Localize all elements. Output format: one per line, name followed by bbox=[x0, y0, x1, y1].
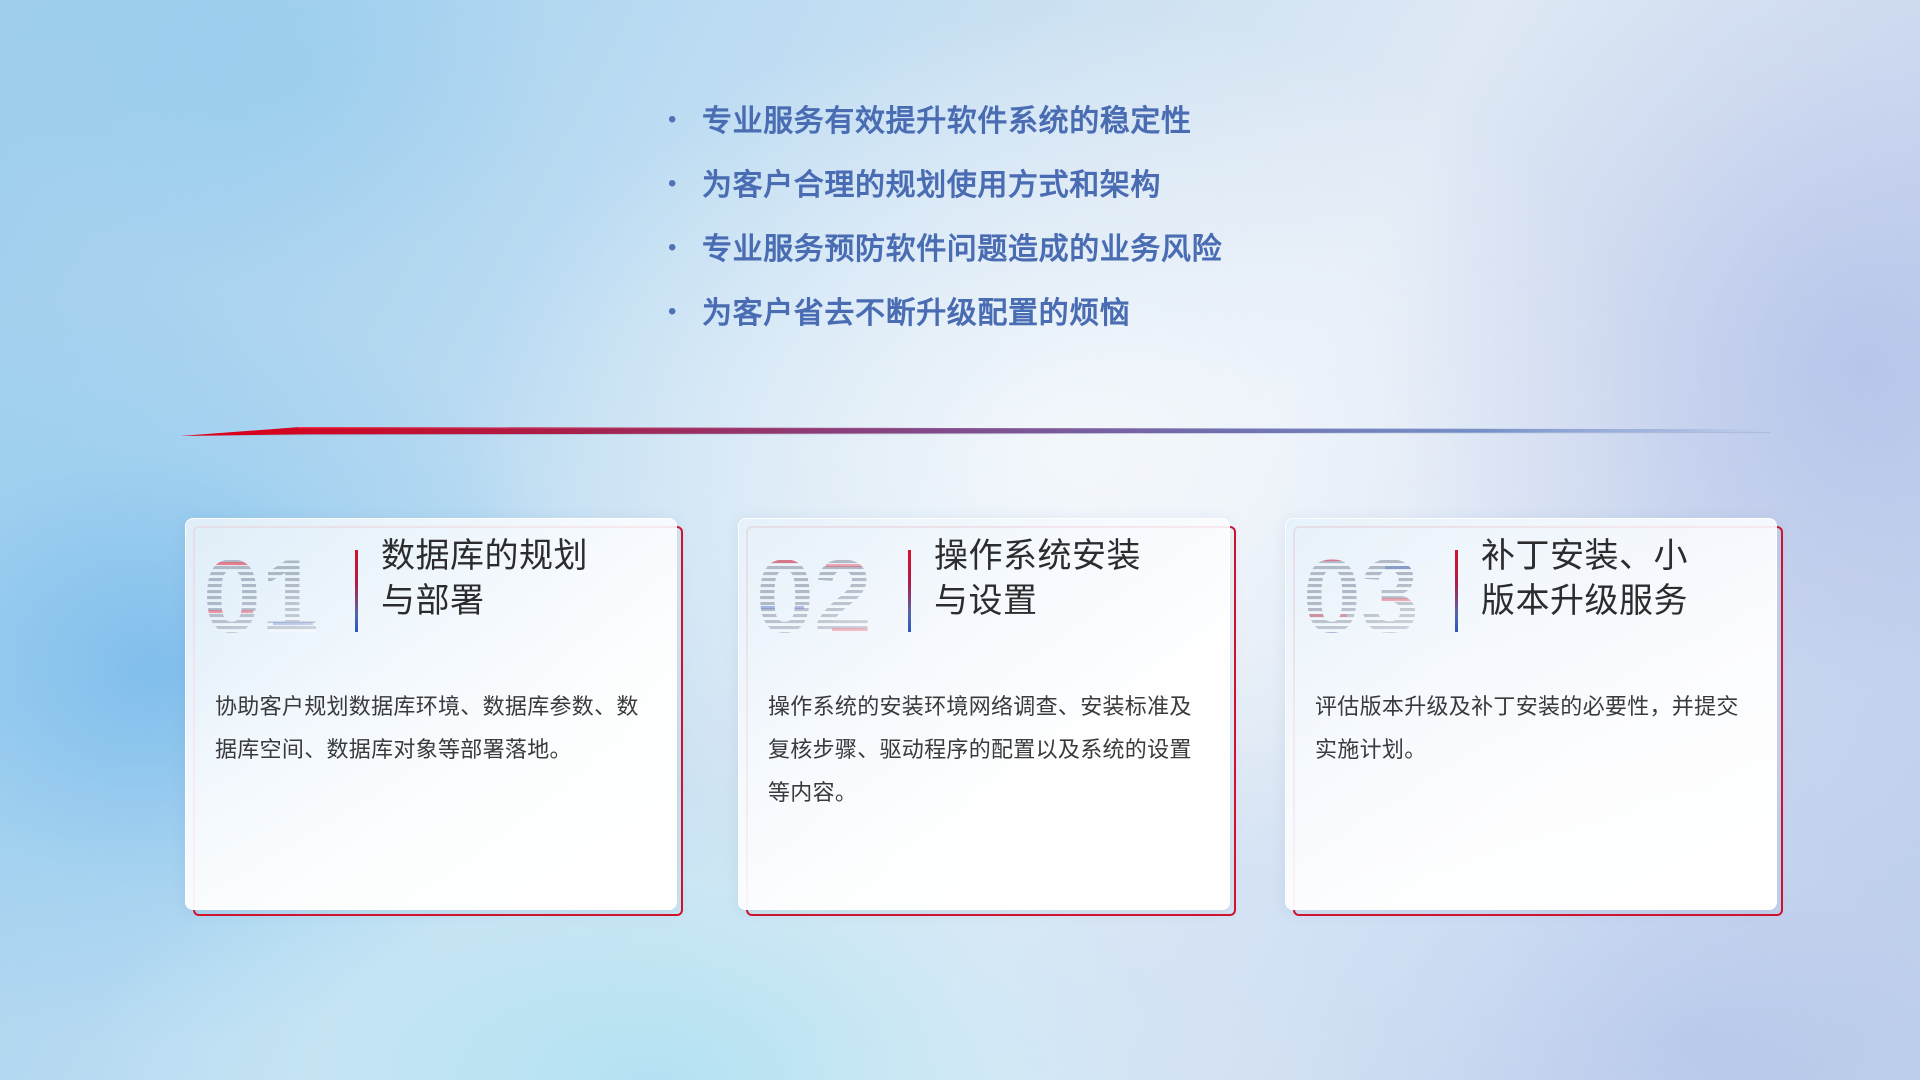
list-item-label: 专业服务有效提升软件系统的稳定性 bbox=[702, 96, 1192, 140]
list-item: • 为客户合理的规划使用方式和架构 bbox=[668, 160, 1428, 224]
card-title-line: 与部署 bbox=[381, 579, 663, 624]
bullet-dot-icon: • bbox=[668, 300, 702, 324]
list-item: • 为客户省去不断升级配置的烦恼 bbox=[668, 288, 1428, 352]
card-body-text: 评估版本升级及补丁安装的必要性，并提交实施计划。 bbox=[1315, 686, 1753, 772]
bullet-dot-icon: • bbox=[668, 172, 702, 196]
bullet-dot-icon: • bbox=[668, 108, 702, 132]
list-item: • 专业服务有效提升软件系统的稳定性 bbox=[668, 96, 1428, 160]
card-title-accent-bar bbox=[908, 550, 911, 632]
card-body-text: 协助客户规划数据库环境、数据库参数、数据库空间、数据库对象等部署落地。 bbox=[215, 686, 653, 772]
list-item-label: 为客户合理的规划使用方式和架构 bbox=[702, 160, 1161, 204]
card-title: 补丁安装、小 版本升级服务 bbox=[1481, 534, 1763, 624]
card-title-line: 与设置 bbox=[934, 579, 1216, 624]
service-card[interactable]: 03 bbox=[1285, 518, 1777, 910]
bullet-dot-icon: • bbox=[668, 236, 702, 260]
card-panel: 02 bbox=[738, 518, 1230, 910]
card-title-line: 操作系统安装 bbox=[934, 534, 1216, 579]
service-card[interactable]: 01 bbox=[185, 518, 677, 910]
card-panel: 01 bbox=[185, 518, 677, 910]
card-number-01-icon: 01 bbox=[199, 536, 339, 658]
card-title-line: 补丁安装、小 bbox=[1481, 534, 1763, 579]
divider-wedge-icon bbox=[180, 418, 1770, 446]
card-title-accent-bar bbox=[355, 550, 358, 632]
card-number-02-icon: 02 bbox=[752, 536, 892, 658]
card-title-line: 版本升级服务 bbox=[1481, 579, 1763, 624]
list-item: • 专业服务预防软件问题造成的业务风险 bbox=[668, 224, 1428, 288]
card-title-accent-bar bbox=[1455, 550, 1458, 632]
card-header: 03 bbox=[1285, 532, 1777, 660]
card-panel: 03 bbox=[1285, 518, 1777, 910]
card-header: 01 bbox=[185, 532, 677, 660]
card-title: 操作系统安装 与设置 bbox=[934, 534, 1216, 624]
service-card[interactable]: 02 bbox=[738, 518, 1230, 910]
card-title-line: 数据库的规划 bbox=[381, 534, 663, 579]
benefits-bullet-list: • 专业服务有效提升软件系统的稳定性 • 为客户合理的规划使用方式和架构 • 专… bbox=[668, 96, 1428, 352]
list-item-label: 为客户省去不断升级配置的烦恼 bbox=[702, 288, 1130, 332]
list-item-label: 专业服务预防软件问题造成的业务风险 bbox=[702, 224, 1222, 268]
card-header: 02 bbox=[738, 532, 1230, 660]
card-number-03-icon: 03 bbox=[1299, 536, 1439, 658]
card-title: 数据库的规划 与部署 bbox=[381, 534, 663, 624]
section-divider bbox=[180, 418, 1770, 446]
card-body-text: 操作系统的安装环境网络调查、安装标准及复核步骤、驱动程序的配置以及系统的设置等内… bbox=[768, 686, 1206, 815]
service-cards: 01 bbox=[0, 518, 1920, 918]
